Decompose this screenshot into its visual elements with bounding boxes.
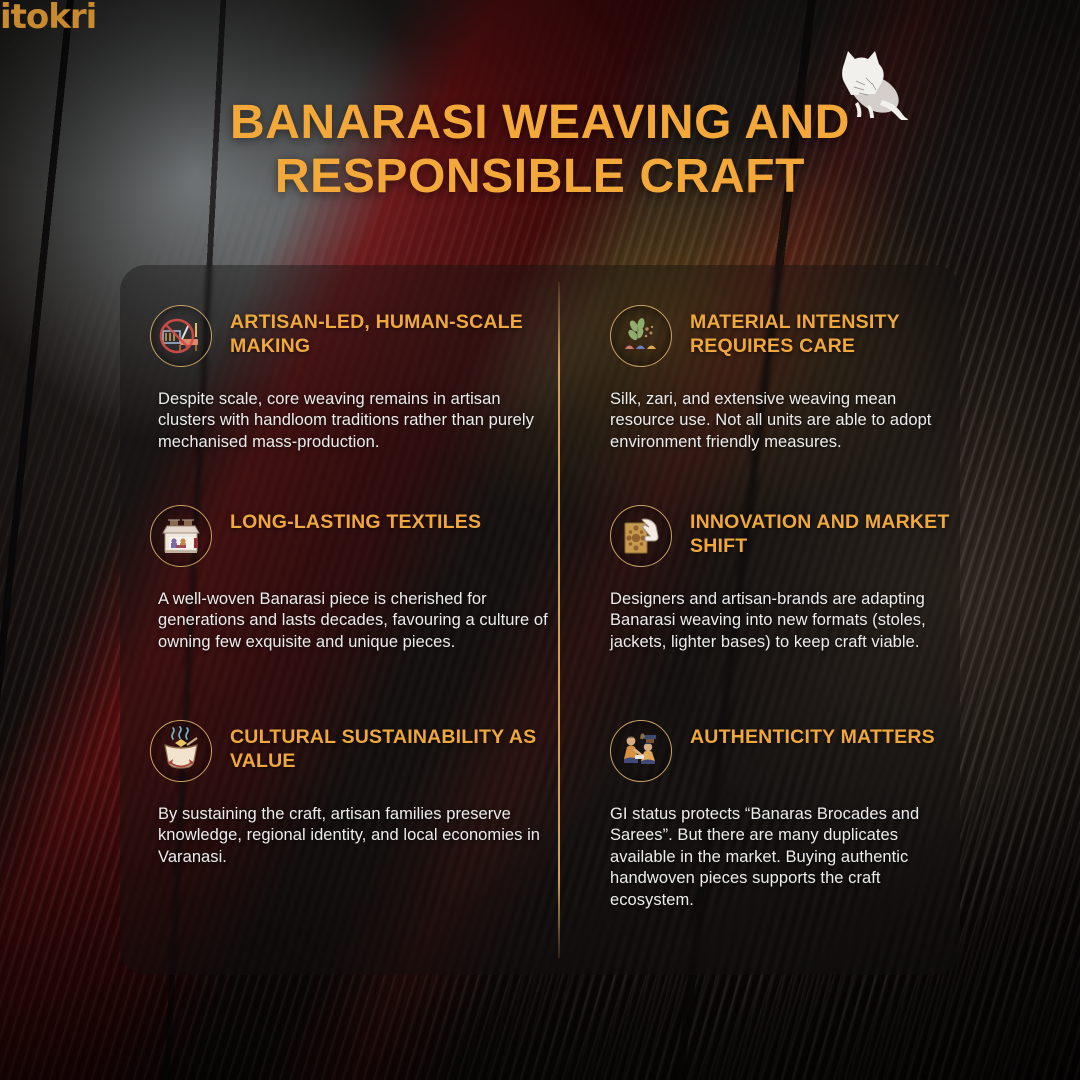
card-title: MATERIAL INTENSITY REQUIRES CARE: [690, 305, 964, 359]
card-header: AUTHENTICITY MATTERS: [610, 720, 964, 782]
card-title: CULTURAL SUSTAINABILITY AS VALUE: [230, 720, 562, 774]
card-title: LONG-LASTING TEXTILES: [230, 505, 481, 535]
page-title: BANARASI WEAVING AND RESPONSIBLE CRAFT: [0, 96, 1080, 204]
card-body: By sustaining the craft, artisan familie…: [158, 804, 553, 868]
card-material-intensity: MATERIAL INTENSITY REQUIRES CARE Silk, z…: [588, 305, 990, 505]
card-body: Silk, zari, and extensive weaving mean r…: [610, 389, 964, 453]
card-long-lasting-textiles: LONG-LASTING TEXTILES A well-woven Banar…: [150, 505, 588, 720]
card-authenticity-matters: AUTHENTICITY MATTERS GI status protects …: [588, 720, 990, 950]
card-title: ARTISAN-LED, HUMAN-SCALE MAKING: [230, 305, 562, 359]
card-header: ARTISAN-LED, HUMAN-SCALE MAKING: [150, 305, 562, 367]
card-body: GI status protects “Banaras Brocades and…: [610, 804, 964, 911]
card-body: Designers and artisan-brands are adaptin…: [610, 589, 964, 653]
card-artisan-led: ARTISAN-LED, HUMAN-SCALE MAKING Despite …: [150, 305, 588, 505]
steaming-dye-pot-icon: [150, 720, 212, 782]
card-title: INNOVATION AND MARKET SHIFT: [690, 505, 964, 559]
cards-grid: ARTISAN-LED, HUMAN-SCALE MAKING Despite …: [120, 265, 960, 975]
natural-dye-leaves-icon: [610, 305, 672, 367]
hand-holding-fabric-icon: [610, 505, 672, 567]
two-artisans-seated-icon: [610, 720, 672, 782]
header: itokri BANARASI WEAVING AND RESPONSIBLE …: [0, 0, 1080, 250]
card-body: Despite scale, core weaving remains in a…: [158, 389, 553, 453]
weaving-workshop-building-icon: [150, 505, 212, 567]
card-innovation-market-shift: INNOVATION AND MARKET SHIFT Designers an…: [588, 505, 990, 720]
card-body: A well-woven Banarasi piece is cherished…: [158, 589, 553, 653]
no-mass-production-icon: [150, 305, 212, 367]
card-title: AUTHENTICITY MATTERS: [690, 720, 935, 750]
card-header: MATERIAL INTENSITY REQUIRES CARE: [610, 305, 964, 367]
card-cultural-sustainability: CULTURAL SUSTAINABILITY AS VALUE By sust…: [150, 720, 588, 950]
card-header: INNOVATION AND MARKET SHIFT: [610, 505, 964, 567]
card-header: CULTURAL SUSTAINABILITY AS VALUE: [150, 720, 562, 782]
card-header: LONG-LASTING TEXTILES: [150, 505, 562, 567]
brand-logo-text[interactable]: itokri: [0, 0, 1080, 34]
